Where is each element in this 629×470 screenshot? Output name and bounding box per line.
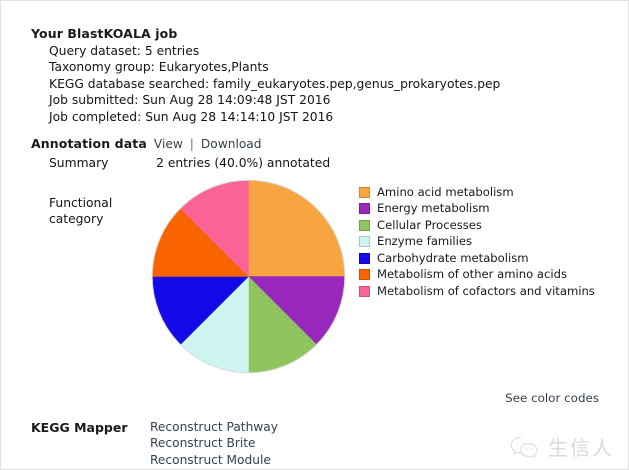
- pie-svg: [151, 179, 346, 374]
- summary-label: Summary: [31, 156, 151, 170]
- job-detail-label: KEGG database searched:: [49, 77, 209, 91]
- link-separator: |: [190, 137, 194, 151]
- see-color-codes-link[interactable]: See color codes: [505, 391, 599, 405]
- job-detail-job-completed: Job completed: Sun Aug 28 14:14:10 JST 2…: [49, 109, 591, 125]
- legend-item[interactable]: Metabolism of cofactors and vitamins: [359, 284, 595, 300]
- kegg-mapper-link-list: Reconstruct PathwayReconstruct BriteReco…: [150, 419, 278, 468]
- job-detail-label: Taxonomy group:: [49, 60, 155, 74]
- annotation-data-title: Annotation data: [31, 135, 147, 152]
- legend-label: Carbohydrate metabolism: [377, 252, 529, 265]
- legend-item[interactable]: Enzyme families: [359, 234, 595, 250]
- watermark-text: 生信人: [548, 432, 614, 461]
- legend-item[interactable]: Carbohydrate metabolism: [359, 250, 595, 266]
- legend-swatch: [359, 220, 370, 231]
- legend-swatch: [359, 286, 370, 297]
- job-detail-list: Query dataset: 5 entries Taxonomy group:…: [31, 43, 591, 125]
- legend-label: Energy metabolism: [377, 202, 490, 215]
- legend-item[interactable]: Metabolism of other amino acids: [359, 267, 595, 283]
- job-detail-label: Job completed:: [49, 110, 141, 124]
- wechat-watermark: 生信人: [509, 432, 614, 461]
- download-annotation-link[interactable]: Download: [201, 137, 262, 151]
- legend-label: Metabolism of cofactors and vitamins: [377, 285, 595, 298]
- blastkoala-result-page: Your BlastKOALA job Query dataset: 5 ent…: [0, 0, 629, 470]
- kegg-mapper-title: KEGG Mapper: [31, 420, 128, 435]
- pie-legend: Amino acid metabolismEnergy metabolismCe…: [359, 184, 595, 300]
- job-detail-value: Sun Aug 28 14:09:48 JST 2016: [142, 93, 330, 107]
- job-detail-label: Query dataset:: [49, 44, 141, 58]
- job-detail-label: Job submitted:: [49, 93, 138, 107]
- functional-category-label-line1: Functional: [49, 195, 145, 211]
- job-detail-taxonomy-group: Taxonomy group: Eukaryotes,Plants: [49, 59, 591, 75]
- job-detail-value: 5 entries: [145, 44, 199, 58]
- mapper-link-reconstruct-brite[interactable]: Reconstruct Brite: [150, 435, 278, 451]
- legend-label: Enzyme families: [377, 235, 472, 248]
- legend-swatch: [359, 269, 370, 280]
- mapper-link-reconstruct-pathway[interactable]: Reconstruct Pathway: [150, 419, 278, 435]
- functional-category-pie-chart: [151, 179, 346, 374]
- summary-row: Summary 2 entries (40.0%) annotated: [31, 156, 591, 175]
- mapper-link-reconstruct-module[interactable]: Reconstruct Module: [150, 452, 278, 468]
- job-detail-value: family_eukaryotes.pep,genus_prokaryotes.…: [213, 77, 500, 91]
- legend-item[interactable]: Energy metabolism: [359, 201, 595, 217]
- job-detail-value: Sun Aug 28 14:14:10 JST 2016: [145, 110, 333, 124]
- legend-label: Cellular Processes: [377, 219, 482, 232]
- view-annotation-link[interactable]: View: [154, 137, 183, 151]
- legend-swatch: [359, 203, 370, 214]
- pie-slice-group: [152, 180, 345, 373]
- job-detail-query-dataset: Query dataset: 5 entries: [49, 43, 591, 59]
- job-detail-value: Eukaryotes,Plants: [159, 60, 269, 74]
- functional-category-label-line2: category: [49, 211, 145, 227]
- legend-swatch: [359, 187, 370, 198]
- legend-item[interactable]: Cellular Processes: [359, 217, 595, 233]
- legend-item[interactable]: Amino acid metabolism: [359, 184, 595, 200]
- annotation-data-header: Annotation data View | Download: [31, 135, 262, 152]
- job-title: Your BlastKOALA job: [31, 25, 591, 42]
- wechat-icon-svg: [509, 435, 539, 459]
- job-info-block: Your BlastKOALA job Query dataset: 5 ent…: [31, 25, 591, 125]
- wechat-icon: [509, 435, 539, 459]
- legend-swatch: [359, 253, 370, 264]
- job-detail-job-submitted: Job submitted: Sun Aug 28 14:09:48 JST 2…: [49, 92, 591, 108]
- legend-label: Amino acid metabolism: [377, 186, 514, 199]
- legend-swatch: [359, 236, 370, 247]
- job-detail-kegg-database: KEGG database searched: family_eukaryote…: [49, 76, 591, 92]
- functional-category-label: Functional category: [49, 195, 145, 228]
- pie-slice[interactable]: [249, 180, 345, 276]
- legend-label: Metabolism of other amino acids: [377, 268, 567, 281]
- summary-value: 2 entries (40.0%) annotated: [156, 156, 330, 170]
